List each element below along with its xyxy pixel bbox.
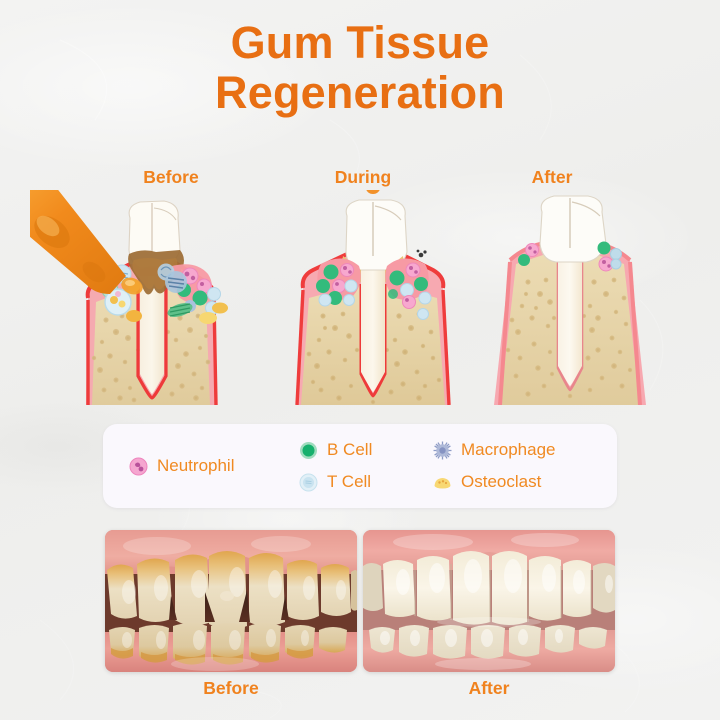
photo-label-after: After <box>363 678 615 699</box>
b-cell-icon <box>299 441 318 460</box>
legend-column-1: Neutrophil <box>129 424 235 508</box>
page-title-line-2: Regeneration <box>0 68 720 118</box>
legend-column-2: B Cell T Cell <box>299 434 372 498</box>
legend-item-t-cell: T Cell <box>299 466 372 498</box>
stage-label-during: During <box>296 167 430 188</box>
page-title: Gum Tissue Regeneration <box>0 18 720 119</box>
neutrophil-cell-icon <box>129 457 148 476</box>
legend-label-macrophage: Macrophage <box>461 440 556 460</box>
clinical-photo-before <box>105 530 357 672</box>
legend-label-osteoclast: Osteoclast <box>461 472 541 492</box>
clinical-photo-after <box>363 530 615 672</box>
stage-label-before: Before <box>104 167 238 188</box>
tooth-diagram-before <box>30 190 260 405</box>
t-cell-icon <box>299 473 318 492</box>
cell-type-legend: Neutrophil B Cell T Cell <box>103 424 617 508</box>
legend-item-osteoclast: Osteoclast <box>433 466 556 498</box>
legend-item-neutrophil: Neutrophil <box>129 450 235 482</box>
photo-label-before: Before <box>105 678 357 699</box>
osteoclast-cell-icon <box>433 473 452 492</box>
legend-column-3: Macrophage Osteoclast <box>433 434 556 498</box>
page-title-line-1: Gum Tissue <box>231 17 490 68</box>
legend-label-neutrophil: Neutrophil <box>157 456 235 476</box>
macrophage-cell-icon <box>433 441 452 460</box>
tooth-diagram-row <box>0 190 720 405</box>
legend-item-macrophage: Macrophage <box>433 434 556 466</box>
legend-item-b-cell: B Cell <box>299 434 372 466</box>
tooth-diagram-after <box>455 190 685 405</box>
tooth-diagram-during <box>258 190 488 405</box>
legend-label-b-cell: B Cell <box>327 440 372 460</box>
stage-label-after: After <box>485 167 619 188</box>
legend-label-t-cell: T Cell <box>327 472 371 492</box>
